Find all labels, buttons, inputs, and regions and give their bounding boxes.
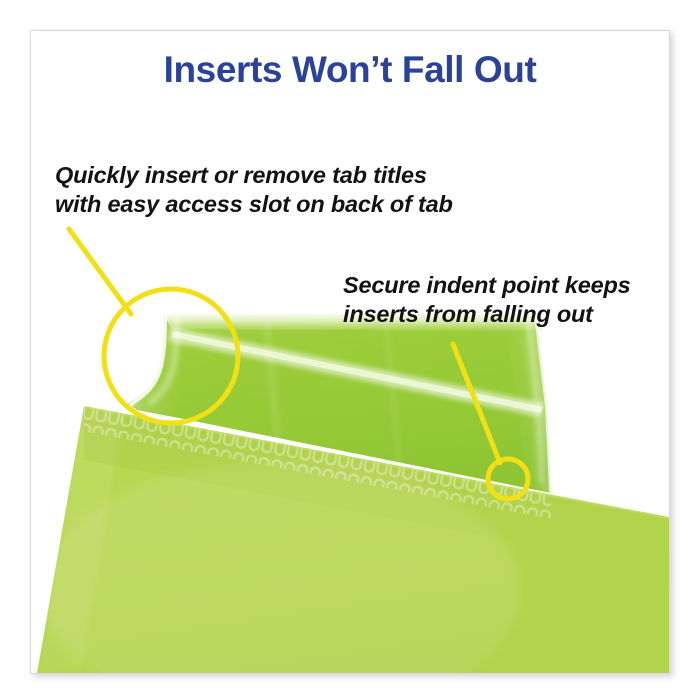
- callout-label-access-slot: Quickly insert or remove tab titles with…: [55, 161, 453, 219]
- callout-line-1: Quickly insert or remove tab titles: [55, 161, 453, 190]
- product-photo: [31, 31, 669, 673]
- callout-label-indent-point: Secure indent point keeps inserts from f…: [343, 271, 631, 329]
- screenshot-canvas: Inserts Won’t Fall Out Quickly insert or…: [0, 0, 700, 700]
- callout-line-2: inserts from falling out: [343, 300, 631, 329]
- page-title: Inserts Won’t Fall Out: [31, 49, 669, 91]
- callout-line-1: Secure indent point keeps: [343, 271, 631, 300]
- product-image-card: Inserts Won’t Fall Out Quickly insert or…: [30, 30, 670, 674]
- callout-line-2: with easy access slot on back of tab: [55, 190, 453, 219]
